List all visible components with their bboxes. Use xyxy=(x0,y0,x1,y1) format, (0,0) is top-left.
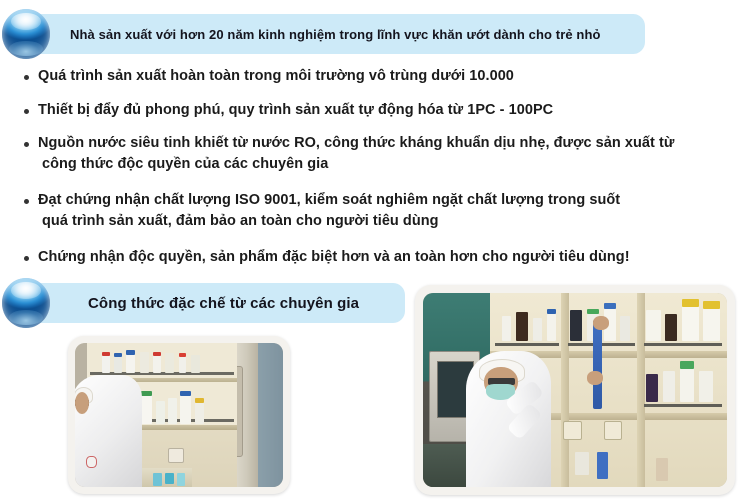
glove xyxy=(86,456,96,468)
bottle xyxy=(646,310,660,341)
bottle xyxy=(620,316,629,341)
list-item: Quá trình sản xuất hoàn toàn trong môi t… xyxy=(24,66,724,87)
shelf-divider xyxy=(637,293,645,487)
bottle xyxy=(699,371,713,402)
bottle xyxy=(533,318,542,341)
bottle xyxy=(191,355,200,374)
bottle xyxy=(140,352,149,374)
bottle xyxy=(179,356,186,373)
bullet-line: công thức độc quyền của các chuyên gia xyxy=(38,154,724,175)
bottle xyxy=(168,398,177,424)
list-item: Đạt chứng nhận chất lượng ISO 9001, kiểm… xyxy=(24,190,724,231)
bottle xyxy=(153,473,162,486)
shelf-rail xyxy=(644,343,722,346)
bullet-line: Nguồn nước siêu tinh khiết từ nước RO, c… xyxy=(38,133,724,154)
shelf-divider xyxy=(561,293,569,487)
bottle xyxy=(575,452,589,475)
shelf-rail xyxy=(644,404,722,407)
head xyxy=(75,392,89,414)
bottle xyxy=(114,356,121,373)
bottle-cap xyxy=(604,303,616,309)
bullet-dot-icon xyxy=(24,256,29,261)
bottle xyxy=(177,473,184,486)
lab-photo-left-image xyxy=(75,343,283,487)
banner-title-1: Nhà sản xuất với hơn 20 năm kinh nghiệm … xyxy=(70,27,601,42)
wall-outlet xyxy=(563,421,582,440)
bottle xyxy=(703,307,720,342)
bullet-text: Thiết bị đẩy đủ phong phú, quy trình sản… xyxy=(38,100,724,121)
bottle-cap xyxy=(114,353,121,357)
bullet-text: Đạt chứng nhận chất lượng ISO 9001, kiểm… xyxy=(38,190,724,231)
list-item: Thiết bị đẩy đủ phong phú, quy trình sản… xyxy=(24,100,724,121)
banner-expert-formula: Công thức đặc chế từ các chuyên gia xyxy=(2,281,405,325)
bottle-cap xyxy=(126,350,135,354)
bottle xyxy=(165,353,174,373)
bottle xyxy=(597,452,609,479)
bottle xyxy=(102,355,109,374)
bottle-cap xyxy=(547,309,556,315)
banner-ribbon: Công thức đặc chế từ các chuyên gia xyxy=(32,283,405,323)
blue-sphere-icon xyxy=(2,278,50,328)
bottle-cap xyxy=(587,309,599,315)
lab-expert xyxy=(466,351,551,487)
lab-photo-left xyxy=(68,336,290,494)
bottle-cap xyxy=(153,352,160,356)
bottle-cap xyxy=(141,391,151,397)
hand xyxy=(593,316,609,330)
test-tube xyxy=(593,320,602,409)
blue-sphere-icon xyxy=(2,9,50,59)
bottle xyxy=(195,402,204,424)
bullet-dot-icon xyxy=(24,199,29,204)
bottle-cap xyxy=(703,301,720,309)
lab-photo-right xyxy=(415,285,735,495)
bullet-line: Thiết bị đẩy đủ phong phú, quy trình sản… xyxy=(38,100,724,121)
banner-manufacturer-experience: Nhà sản xuất với hơn 20 năm kinh nghiệm … xyxy=(2,12,645,56)
bottle xyxy=(165,473,174,485)
bottle xyxy=(156,401,165,424)
dark-bottle xyxy=(516,312,528,341)
bullet-line: Quá trình sản xuất hoàn toàn trong môi t… xyxy=(38,66,724,87)
bottle xyxy=(180,395,190,424)
bottle xyxy=(141,395,151,424)
bullet-line: Đạt chứng nhận chất lượng ISO 9001, kiểm… xyxy=(38,190,724,211)
bullet-line: quá trình sản xuất, đảm bảo an toàn cho … xyxy=(38,211,724,232)
bottle-cap xyxy=(195,398,204,404)
lab-scene-left xyxy=(75,343,283,487)
bottle xyxy=(656,458,668,481)
feature-bullet-list: Quá trình sản xuất hoàn toàn trong môi t… xyxy=(24,66,724,268)
list-item: Chứng nhận độc quyền, sản phẩm đặc biệt … xyxy=(24,247,724,268)
dark-bottle xyxy=(665,314,677,341)
wall-outlet xyxy=(604,421,623,440)
dark-bottle xyxy=(570,310,582,341)
dark-bottle xyxy=(646,374,658,401)
bullet-dot-icon xyxy=(24,109,29,114)
bottle xyxy=(682,305,699,342)
bottle-cap xyxy=(102,352,109,356)
bullet-text: Quá trình sản xuất hoàn toàn trong môi t… xyxy=(38,66,724,87)
lab-technician xyxy=(75,375,142,487)
bottle-cap xyxy=(682,299,699,307)
bullet-text: Nguồn nước siêu tinh khiết từ nước RO, c… xyxy=(38,133,724,174)
list-item: Nguồn nước siêu tinh khiết từ nước RO, c… xyxy=(24,133,724,174)
bottle-cap xyxy=(680,361,694,369)
bottle xyxy=(502,316,511,341)
bullet-text: Chứng nhận độc quyền, sản phẩm đặc biệt … xyxy=(38,247,724,268)
bottle-cap xyxy=(179,353,186,357)
bullet-dot-icon xyxy=(24,75,29,80)
shelf-rail xyxy=(495,343,559,346)
bottle xyxy=(126,353,135,373)
lab-scene-right xyxy=(423,293,727,487)
infographic-page: Nhà sản xuất với hơn 20 năm kinh nghiệm … xyxy=(0,0,750,502)
bullet-line: Chứng nhận độc quyền, sản phẩm đặc biệt … xyxy=(38,247,724,268)
bottle-cap xyxy=(180,391,190,397)
banner-ribbon: Nhà sản xuất với hơn 20 năm kinh nghiệm … xyxy=(32,14,645,54)
wall-outlet xyxy=(168,448,183,463)
bottle xyxy=(153,355,160,374)
bullet-dot-icon xyxy=(24,142,29,147)
lab-photo-right-image xyxy=(423,293,727,487)
bottle xyxy=(547,314,556,341)
hand xyxy=(587,371,603,385)
bottle xyxy=(663,371,675,402)
banner-title-2: Công thức đặc chế từ các chuyên gia xyxy=(70,295,359,312)
bottle xyxy=(680,367,694,402)
